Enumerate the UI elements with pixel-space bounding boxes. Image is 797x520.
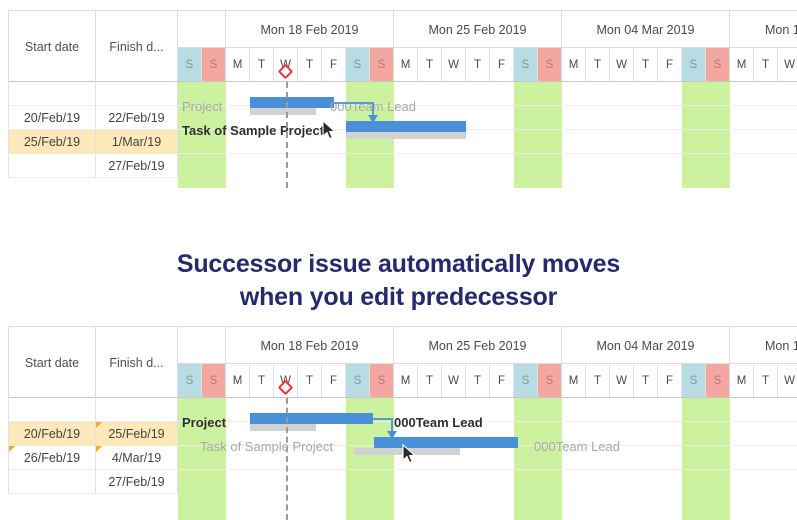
day-header-cell: M (394, 48, 418, 81)
cell-start-date[interactable]: 20/Feb/19 (8, 106, 96, 130)
day-header-cell: T (586, 364, 610, 397)
week-label: Mon 25 Feb 2019 (429, 23, 527, 37)
day-header-cell: S (514, 364, 538, 397)
column-header-label: Start date (25, 356, 79, 370)
day-header-cell: F (322, 48, 346, 81)
task-bar[interactable] (250, 413, 373, 424)
week-label: Mon 11 Mar 2019 (765, 339, 797, 353)
task-progress-bar (346, 132, 466, 139)
day-header-cell: S (682, 48, 706, 81)
table-row[interactable]: 26/Feb/19 4/Mar/19 (8, 446, 178, 470)
timeline-after: Mon 18 Feb 2019 Mon 25 Feb 2019 Mon 04 M… (178, 326, 797, 520)
today-line (286, 398, 288, 520)
day-header-cell: F (322, 364, 346, 397)
column-header-finish-date[interactable]: Finish d... (96, 11, 178, 83)
week-label: Mon 11 Mar 2019 (765, 23, 797, 37)
week-header-partial (178, 327, 226, 364)
week-header: Mon 18 Feb 2019 (226, 327, 394, 364)
cell-finish-date[interactable]: 4/Mar/19 (96, 446, 178, 470)
grid-body-before: 20/Feb/19 22/Feb/19 25/Feb/19 1/Mar/19 2… (8, 82, 178, 188)
cell-start-date[interactable]: 20/Feb/19 (8, 422, 96, 446)
task-resource-label: 000Team Lead (394, 415, 483, 430)
day-header-cell: S (538, 364, 562, 397)
day-header-cell: S (346, 48, 370, 81)
week-header-partial (178, 11, 226, 48)
week-label: Mon 04 Mar 2019 (597, 23, 695, 37)
day-header-cell: M (394, 364, 418, 397)
grid-header-before: Start date Finish d... (8, 10, 178, 82)
mouse-cursor-icon (322, 120, 336, 140)
task-bar[interactable] (346, 121, 466, 132)
week-header: Mon 11 Mar 2019 (730, 11, 797, 48)
day-header-cell: S (202, 364, 226, 397)
gantt-chart-before: Start date Finish d... 20/Feb/19 22/Feb/… (0, 10, 797, 188)
task-name-label[interactable]: Project (182, 99, 222, 114)
grid-body-after: 20/Feb/19 25/Feb/19 26/Feb/19 4/Mar/19 2… (8, 398, 178, 520)
day-header-cell: W (610, 48, 634, 81)
cell-finish-date[interactable] (96, 398, 178, 422)
cell-finish-date[interactable]: 25/Feb/19 (96, 422, 178, 446)
weekend-column (514, 398, 538, 520)
day-header-cell: T (466, 364, 490, 397)
day-header-cell: T (754, 48, 778, 81)
column-header-start-date[interactable]: Start date (8, 327, 96, 399)
column-header-label: Finish d... (109, 40, 163, 54)
day-header-cell: M (226, 48, 250, 81)
week-label: Mon 25 Feb 2019 (429, 339, 527, 353)
column-header-label: Start date (25, 40, 79, 54)
week-header: Mon 25 Feb 2019 (394, 327, 562, 364)
week-header: Mon 25 Feb 2019 (394, 11, 562, 48)
task-progress-bar (354, 448, 460, 455)
day-header-cell: S (346, 364, 370, 397)
week-label: Mon 18 Feb 2019 (261, 23, 359, 37)
table-row[interactable]: 27/Feb/19 (8, 470, 178, 494)
week-label: Mon 18 Feb 2019 (261, 339, 359, 353)
week-header: Mon 18 Feb 2019 (226, 11, 394, 48)
weekend-column (706, 82, 730, 188)
day-header-cell: S (682, 364, 706, 397)
day-header-row-before: SSMTWTFSSMTWTFSSMTWTFSSMTWTFSSS (178, 48, 797, 82)
day-header-cell: M (226, 364, 250, 397)
day-header-cell: W (778, 48, 797, 81)
day-header-cell: S (706, 364, 730, 397)
headline-line-1: Successor issue automatically moves (0, 248, 797, 281)
day-header-cell: S (370, 48, 394, 81)
day-header-cell: T (298, 48, 322, 81)
weekend-column (682, 398, 706, 520)
day-header-cell: W (610, 364, 634, 397)
table-row[interactable] (8, 398, 178, 422)
day-header-cell: T (250, 48, 274, 81)
day-header-cell: T (586, 48, 610, 81)
day-header-cell: T (298, 364, 322, 397)
timeline-body-before: Project 000Team Lead Task of Sample Proj… (178, 82, 797, 188)
day-header-cell: F (658, 48, 682, 81)
day-header-cell: T (634, 364, 658, 397)
cell-finish-date[interactable] (96, 82, 178, 106)
grid-header-after: Start date Finish d... (8, 326, 178, 398)
day-header-cell: T (250, 364, 274, 397)
weekend-column (538, 398, 562, 520)
column-header-finish-date[interactable]: Finish d... (96, 327, 178, 399)
task-name-label[interactable]: Project (182, 415, 226, 430)
day-header-cell: S (538, 48, 562, 81)
cell-finish-date[interactable]: 1/Mar/19 (96, 130, 178, 154)
headline: Successor issue automatically moves when… (0, 248, 797, 314)
day-header-cell: F (490, 364, 514, 397)
day-header-cell: T (634, 48, 658, 81)
cell-start-date[interactable] (8, 470, 96, 494)
task-bar[interactable] (250, 97, 334, 108)
timeline-body-after: Project 000Team Lead Task of Sample Proj… (178, 398, 797, 520)
task-name-label[interactable]: Task of Sample Project (200, 439, 333, 454)
headline-line-2: when you edit predecessor (0, 281, 797, 314)
weekend-column (370, 398, 394, 520)
day-header-cell: W (442, 48, 466, 81)
day-header-cell: M (562, 364, 586, 397)
column-header-start-date[interactable]: Start date (8, 11, 96, 83)
timeline-header-after: Mon 18 Feb 2019 Mon 25 Feb 2019 Mon 04 M… (178, 326, 797, 398)
cell-start-date[interactable]: 25/Feb/19 (8, 130, 96, 154)
today-line (286, 82, 288, 188)
gantt-comparison-page: Start date Finish d... 20/Feb/19 22/Feb/… (0, 0, 797, 520)
week-label: Mon 04 Mar 2019 (597, 339, 695, 353)
day-header-cell: F (658, 364, 682, 397)
table-row[interactable]: 20/Feb/19 22/Feb/19 (8, 106, 178, 130)
cell-start-date[interactable] (8, 154, 96, 178)
task-progress-bar (250, 108, 316, 115)
table-row[interactable]: 20/Feb/19 25/Feb/19 (8, 422, 178, 446)
week-header: Mon 04 Mar 2019 (562, 11, 730, 48)
day-header-cell: W (442, 364, 466, 397)
day-header-cell: S (706, 48, 730, 81)
day-header-cell: T (418, 48, 442, 81)
weekend-column (538, 82, 562, 188)
day-header-cell: T (466, 48, 490, 81)
day-header-cell: S (178, 48, 202, 81)
weekend-column (706, 398, 730, 520)
column-header-label: Finish d... (109, 356, 163, 370)
day-header-cell: F (490, 48, 514, 81)
task-name-label[interactable]: Task of Sample Project (182, 123, 324, 138)
task-progress-bar (250, 424, 316, 431)
day-header-row-after: SSMTWTFSSMTWTFSSMTWTFSSMTWTFSSS (178, 364, 797, 398)
week-header-row: Mon 18 Feb 2019 Mon 25 Feb 2019 Mon 04 M… (178, 10, 797, 48)
gantt-chart-after: Start date Finish d... 20/Feb/19 25/Feb/… (0, 326, 797, 520)
day-header-cell: M (562, 48, 586, 81)
weekend-column (514, 82, 538, 188)
data-grid-after: Start date Finish d... 20/Feb/19 25/Feb/… (8, 326, 178, 520)
task-resource-label: 000Team Lead (534, 439, 620, 454)
day-header-cell: M (730, 48, 754, 81)
day-header-cell: T (418, 364, 442, 397)
week-header: Mon 04 Mar 2019 (562, 327, 730, 364)
week-header: Mon 11 Mar 2019 (730, 327, 797, 364)
day-header-cell: M (730, 364, 754, 397)
table-row[interactable]: 27/Feb/19 (8, 154, 178, 178)
cell-finish-date[interactable]: 27/Feb/19 (96, 154, 178, 178)
day-header-cell: S (514, 48, 538, 81)
day-header-cell: S (370, 364, 394, 397)
week-header-row: Mon 18 Feb 2019 Mon 25 Feb 2019 Mon 04 M… (178, 326, 797, 364)
table-row[interactable]: 25/Feb/19 1/Mar/19 (8, 130, 178, 154)
cell-start-date[interactable] (8, 82, 96, 106)
cell-finish-date[interactable]: 22/Feb/19 (96, 106, 178, 130)
day-header-cell: W (778, 364, 797, 397)
timeline-header-before: Mon 18 Feb 2019 Mon 25 Feb 2019 Mon 04 M… (178, 10, 797, 82)
data-grid-before: Start date Finish d... 20/Feb/19 22/Feb/… (8, 10, 178, 188)
day-header-cell: T (754, 364, 778, 397)
weekend-column (682, 82, 706, 188)
timeline-before: Mon 18 Feb 2019 Mon 25 Feb 2019 Mon 04 M… (178, 10, 797, 188)
task-bar[interactable] (374, 437, 518, 448)
day-header-cell: S (178, 364, 202, 397)
cell-start-date[interactable]: 26/Feb/19 (8, 446, 96, 470)
cell-start-date[interactable] (8, 398, 96, 422)
table-row[interactable] (8, 82, 178, 106)
day-header-cell: S (202, 48, 226, 81)
cell-finish-date[interactable]: 27/Feb/19 (96, 470, 178, 494)
